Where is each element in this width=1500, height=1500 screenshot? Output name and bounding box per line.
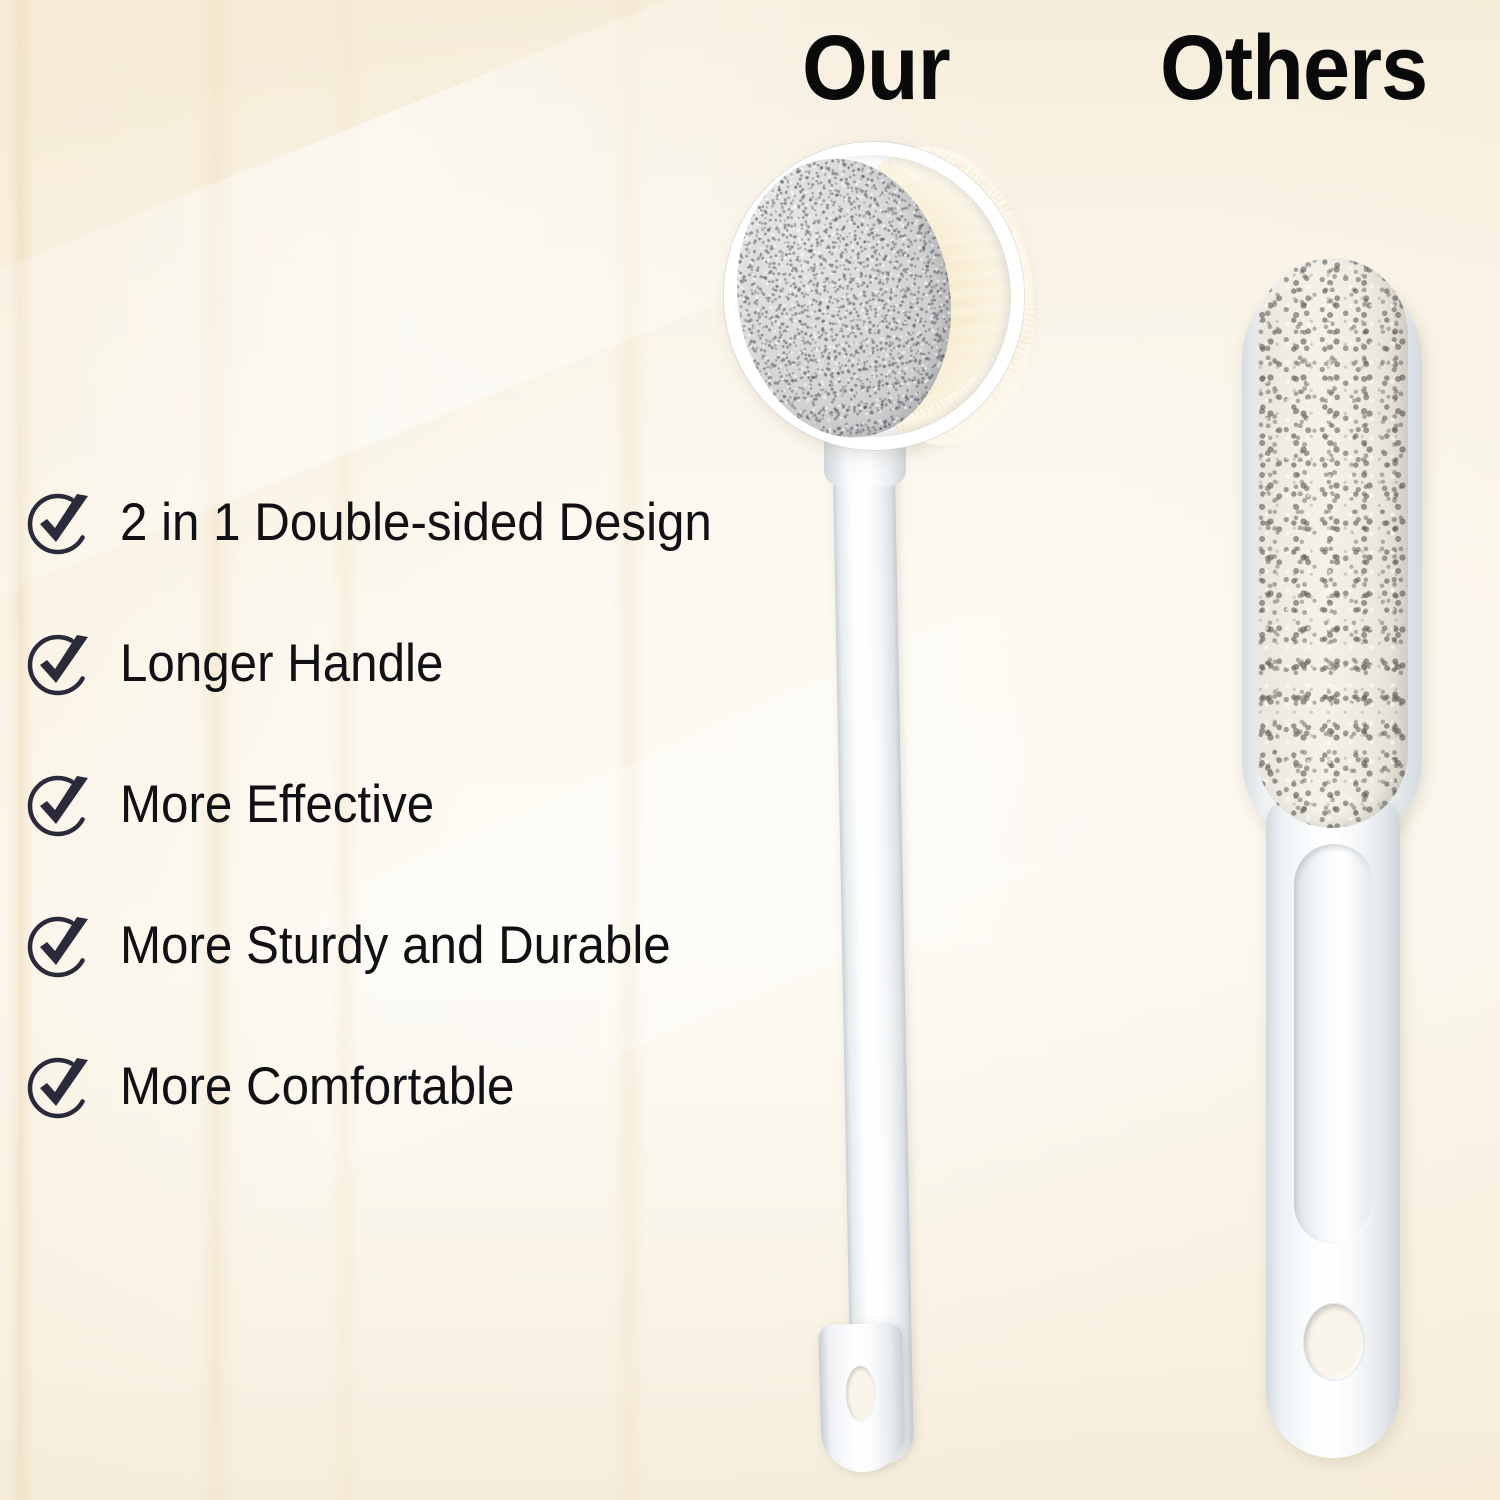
pumice-texture	[717, 143, 970, 453]
hanging-hole	[845, 1366, 876, 1423]
feature-label: More Sturdy and Durable	[120, 919, 671, 972]
feature-item: Longer Handle	[24, 627, 824, 699]
feature-label: Longer Handle	[120, 637, 443, 690]
pumice-stone-disc	[717, 143, 970, 453]
hanging-hole	[1304, 1304, 1364, 1380]
check-circle-icon	[24, 909, 96, 981]
column-header-others: Others	[1160, 22, 1427, 114]
check-circle-icon	[24, 486, 96, 558]
column-header-our: Our	[802, 22, 950, 114]
file-handle	[1266, 798, 1400, 1458]
product-image-our	[716, 128, 1046, 1468]
brush-handle-tip	[818, 1323, 906, 1473]
product-image-others	[1232, 258, 1462, 1458]
feature-item: 2 in 1 Double-sided Design	[24, 486, 824, 558]
feature-label: More Effective	[120, 778, 434, 831]
check-circle-icon	[24, 1050, 96, 1122]
bristle-strand	[1024, 281, 1042, 283]
product-comparison-image: Our Others 2 in 1 Double-sided Design Lo…	[0, 0, 1500, 1500]
brush-handle	[832, 423, 914, 1464]
pumice-texture	[1256, 258, 1408, 828]
thumb-grip-groove	[1294, 844, 1374, 1244]
feature-label: More Comfortable	[120, 1060, 514, 1113]
feature-item: More Sturdy and Durable	[24, 909, 824, 981]
pumice-stone-pad	[1256, 258, 1408, 828]
feature-label: 2 in 1 Double-sided Design	[120, 496, 712, 549]
feature-item: More Effective	[24, 768, 824, 840]
check-circle-icon	[24, 627, 96, 699]
feature-list: 2 in 1 Double-sided Design Longer Handle…	[24, 486, 824, 1122]
feature-item: More Comfortable	[24, 1050, 824, 1122]
check-circle-icon	[24, 768, 96, 840]
